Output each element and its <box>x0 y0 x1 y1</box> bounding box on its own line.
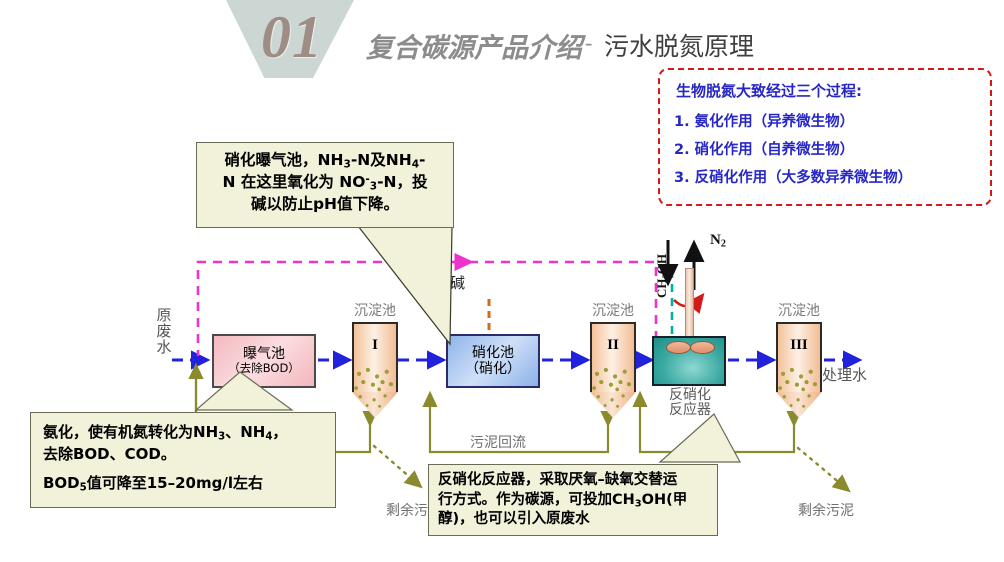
ca-l3b: 值可降至15–20mg/l左右 <box>87 474 263 492</box>
info-box-item-1: 1. 氨化作用（异养微生物） <box>674 110 980 131</box>
aeration-tank-line1: 曝气池 <box>243 346 285 362</box>
info-box-heading: 生物脱氮大致经过三个过程: <box>676 80 980 101</box>
settler-3-numeral: III <box>790 337 808 354</box>
callout-ammonification-line2: 去除BOD、COD。 <box>43 444 323 464</box>
return-right-label: 回流 <box>700 432 728 452</box>
settler-3: III <box>776 322 822 418</box>
page-title: 复合碳源产品介绍 <box>366 26 582 65</box>
methanol-b: OH <box>654 254 669 274</box>
callout-nitrification-line2: N 在这里氧化为 NO-3-N，投 <box>205 172 445 194</box>
page-subtitle: 污水脱氮原理 <box>604 27 754 63</box>
ca-l3s: 5 <box>80 482 87 493</box>
title-separator: - <box>585 30 592 56</box>
cn-l1a: 硝化曝气池， <box>225 151 318 169</box>
cd-l2s: 3 <box>635 498 642 509</box>
cd-l2c: OH( <box>642 492 673 508</box>
methanol-feed-label: CH3OH <box>654 298 698 314</box>
callout-denitrification-line2: 行方式。作为碳源，可投加CH3OH(甲 <box>438 491 708 511</box>
influent-label: 原废水 <box>156 308 172 355</box>
cn-l2c: NO <box>339 173 365 191</box>
info-box-item-2: 2. 硝化作用（自养微生物） <box>674 138 980 159</box>
ca-l3a: BOD <box>43 474 80 492</box>
cn-l3b: pH <box>313 195 337 213</box>
cn-l3a: 碱以防止 <box>251 195 313 213</box>
aeration-tank: 曝气池 （去除BOD） <box>212 334 316 388</box>
cn-l2d: -N <box>377 173 396 191</box>
settler-2: II <box>590 322 636 418</box>
callout-denitrification: 反硝化反应器，采取厌氧–缺氧交替运 行方式。作为碳源，可投加CH3OH(甲 醇)… <box>428 464 718 536</box>
sludge-return-label: 污泥回流 <box>470 432 526 452</box>
callout-nitrification-line3: 碱以防止pH值下降。 <box>205 194 445 215</box>
callout-nitrification: 硝化曝气池，NH3-N及NH4- N 在这里氧化为 NO-3-N，投 碱以防止p… <box>196 142 454 228</box>
cn-l3c: 值下降。 <box>337 195 399 213</box>
settler-3-caption: 沉淀池 <box>762 300 836 320</box>
callout-ammonification: 氨化，使有机氮转化为NH3、NH4， 去除BOD、COD。 BOD5值可降至15… <box>30 412 336 508</box>
section-number: 01 <box>232 2 352 72</box>
slide-canvas: 01 复合碳源产品介绍 - 污水脱氮原理 生物脱氮大致经过三个过程: 1. 氨化… <box>0 0 1004 562</box>
cd-l2a: 行方式。作为碳源，可投加 <box>438 492 612 508</box>
cn-l1d: - <box>419 151 425 169</box>
cn-l1b: NH <box>318 151 344 169</box>
ca-l1c: 、NH <box>225 423 265 441</box>
denitrification-reactor-label: 反硝化 反应器 <box>648 388 732 419</box>
cn-l2b: 在这里氧化为 <box>235 173 339 191</box>
nitrogen-gas-label: N2 <box>710 232 726 250</box>
cd-l2b: CH <box>612 492 635 508</box>
settler-1-numeral: I <box>372 337 378 354</box>
settler-2-caption: 沉淀池 <box>576 300 650 320</box>
cn-l1s1: 3 <box>344 159 351 171</box>
alkali-label: 碱 <box>450 272 465 293</box>
nitrification-tank-line1: 硝化池 <box>472 345 514 361</box>
settler-1-caption: 沉淀池 <box>338 300 412 320</box>
biological-denitrification-info-box: 生物脱氮大致经过三个过程: 1. 氨化作用（异养微生物） 2. 硝化作用（自养微… <box>658 68 992 206</box>
settler-2-numeral: II <box>607 337 619 354</box>
callout-denitrification-line3: 醇)，也可以引入原废水 <box>438 510 708 530</box>
mixer-blade-left <box>666 341 691 354</box>
nitrogen-sub: 2 <box>721 239 726 250</box>
settler-1: I <box>352 322 398 418</box>
cn-l1c: -N及NH <box>351 151 412 169</box>
ca-l1b: NH <box>193 423 218 441</box>
callout-denitrification-line1: 反硝化反应器，采取厌氧–缺氧交替运 <box>438 471 708 491</box>
ca-l1d: ， <box>272 423 287 441</box>
nitrogen-a: N <box>710 232 721 248</box>
excess-sludge-right-label: 剩余污泥 <box>798 500 854 520</box>
cn-l2e: ，投 <box>397 173 428 191</box>
cn-l2a: N <box>222 173 235 191</box>
callout-ammonification-line1: 氨化，使有机氮转化为NH3、NH4， <box>43 422 323 444</box>
cn-l1s2: 4 <box>412 159 419 171</box>
callout-ammonification-line3: BOD5值可降至15–20mg/l左右 <box>43 473 323 495</box>
info-box-item-3: 3. 反硝化作用（大多数异养微生物） <box>674 166 980 187</box>
cd-l2d: 甲 <box>673 492 688 508</box>
mixer-blade-right <box>690 341 715 354</box>
nitrification-tank-line2: （硝化） <box>465 361 521 377</box>
methanol-sub: 3 <box>660 274 670 278</box>
methanol-a: CH <box>654 279 669 299</box>
cn-l2sub: 3 <box>370 180 377 192</box>
aeration-tank-line2: （去除BOD） <box>228 362 300 375</box>
nitrification-tank: 硝化池 （硝化） <box>446 334 540 388</box>
den-label-line2: 反应器 <box>648 403 732 418</box>
ca-l1a: 氨化，使有机氮转化为 <box>43 423 193 441</box>
callout-nitrification-line1: 硝化曝气池，NH3-N及NH4- <box>205 150 445 172</box>
effluent-label: 处理水 <box>822 364 867 385</box>
